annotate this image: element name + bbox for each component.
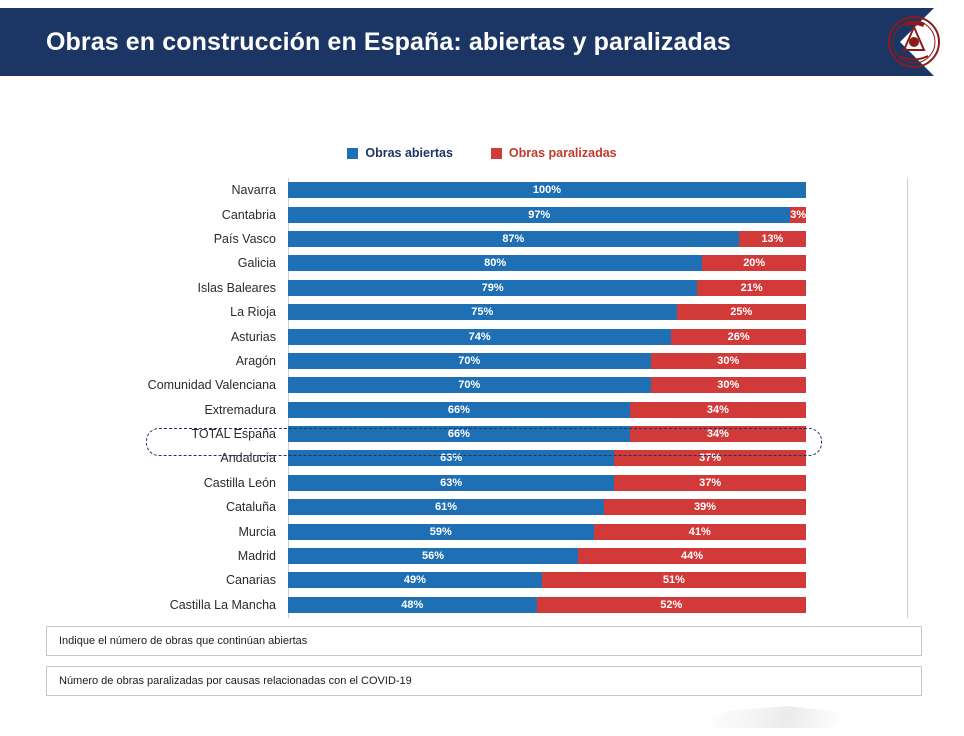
legend-label-stopped: Obras paralizadas	[509, 146, 617, 160]
chart-row: Navarra100%	[48, 178, 868, 202]
chart-row-label: Cantabria	[48, 208, 282, 222]
bar-segment-stopped: 51%	[542, 572, 806, 588]
chart-row-bars: 74%26%	[288, 329, 806, 345]
legend-item-obras-abiertas: Obras abiertas	[347, 146, 453, 160]
chart-row-bars: 48%52%	[288, 597, 806, 613]
page-header: Obras en construcción en España: abierta…	[0, 8, 964, 76]
chart-row-label: Extremadura	[48, 403, 282, 417]
coat-of-arms-logo	[886, 14, 942, 70]
page-title: Obras en construcción en España: abierta…	[46, 8, 731, 76]
chart-row: Castilla León63%37%	[48, 471, 868, 495]
chart-legend: Obras abiertas Obras paralizadas	[0, 146, 964, 160]
footnote-open-works: Indique el número de obras que continúan…	[46, 626, 922, 656]
chart-row-bars: 49%51%	[288, 572, 806, 588]
chart-row-label: Cataluña	[48, 500, 282, 514]
chart-row-bars: 61%39%	[288, 499, 806, 515]
bar-segment-stopped: 3%	[790, 207, 806, 223]
bar-segment-open: 61%	[288, 499, 604, 515]
bar-segment-stopped: 34%	[630, 426, 806, 442]
bar-segment-open: 70%	[288, 353, 651, 369]
chart-row: Islas Baleares79%21%	[48, 276, 868, 300]
bar-segment-stopped: 37%	[614, 450, 806, 466]
chart-row-label: Andalucía	[48, 451, 282, 465]
bar-segment-open: 75%	[288, 304, 677, 320]
bar-segment-open: 97%	[288, 207, 790, 223]
bar-segment-stopped: 52%	[537, 597, 806, 613]
footnotes: Indique el número de obras que continúan…	[46, 626, 922, 696]
chart-row-bars: 70%30%	[288, 353, 806, 369]
chart-row-label: Asturias	[48, 330, 282, 344]
chart-row-bars: 63%37%	[288, 450, 806, 466]
chart-row-label: Islas Baleares	[48, 281, 282, 295]
footnote-stopped-works: Número de obras paralizadas por causas r…	[46, 666, 922, 696]
chart-row: Andalucía63%37%	[48, 446, 868, 470]
bar-segment-stopped: 30%	[651, 353, 806, 369]
chart-row-bars: 79%21%	[288, 280, 806, 296]
bar-segment-open: 74%	[288, 329, 671, 345]
chart-row-bars: 59%41%	[288, 524, 806, 540]
chart-row: Asturias74%26%	[48, 324, 868, 348]
background-watermark	[704, 706, 844, 728]
bar-segment-open: 56%	[288, 548, 578, 564]
legend-swatch-open-icon	[347, 148, 358, 159]
bar-segment-stopped: 21%	[697, 280, 806, 296]
chart-row-label: País Vasco	[48, 232, 282, 246]
chart-row-label: TOTAL España	[48, 427, 282, 441]
bar-segment-stopped: 30%	[651, 377, 806, 393]
chart-row-label: Madrid	[48, 549, 282, 563]
chart-row-bars: 56%44%	[288, 548, 806, 564]
chart-row: Cataluña61%39%	[48, 495, 868, 519]
bar-segment-open: 66%	[288, 426, 630, 442]
chart-row: La Rioja75%25%	[48, 300, 868, 324]
chart-rows: Navarra100%Cantabria97%3%País Vasco87%13…	[48, 178, 868, 617]
chart-row: Cantabria97%3%	[48, 202, 868, 226]
chart-row: Canarias49%51%	[48, 568, 868, 592]
chart-row-label: Comunidad Valenciana	[48, 378, 282, 392]
chart-row-label: Navarra	[48, 183, 282, 197]
bar-segment-open: 80%	[288, 255, 702, 271]
bar-segment-open: 59%	[288, 524, 594, 540]
chart-row-bars: 66%34%	[288, 426, 806, 442]
bar-segment-stopped: 26%	[671, 329, 806, 345]
chart-row: Madrid56%44%	[48, 544, 868, 568]
chart-row-label: Castilla La Mancha	[48, 598, 282, 612]
bar-segment-stopped: 39%	[604, 499, 806, 515]
chart-row-bars: 70%30%	[288, 377, 806, 393]
bar-segment-stopped: 41%	[594, 524, 806, 540]
legend-item-obras-paralizadas: Obras paralizadas	[491, 146, 617, 160]
bar-segment-open: 100%	[288, 182, 806, 198]
bar-segment-stopped: 44%	[578, 548, 806, 564]
chart-row: TOTAL España66%34%	[48, 422, 868, 446]
chart-row-label: Canarias	[48, 573, 282, 587]
chart-row-bars: 100%	[288, 182, 806, 198]
bar-segment-open: 63%	[288, 475, 614, 491]
bar-segment-open: 48%	[288, 597, 537, 613]
bar-segment-stopped: 34%	[630, 402, 806, 418]
bar-segment-stopped: 13%	[739, 231, 806, 247]
chart-row: Murcia59%41%	[48, 519, 868, 543]
chart-row: País Vasco87%13%	[48, 227, 868, 251]
chart-row: Galicia80%20%	[48, 251, 868, 275]
stacked-bar-chart: Navarra100%Cantabria97%3%País Vasco87%13…	[48, 178, 868, 618]
bar-segment-open: 87%	[288, 231, 739, 247]
chart-row-label: Aragón	[48, 354, 282, 368]
legend-label-open: Obras abiertas	[365, 146, 453, 160]
chart-row-bars: 66%34%	[288, 402, 806, 418]
chart-row-bars: 97%3%	[288, 207, 806, 223]
chart-row: Castilla La Mancha48%52%	[48, 593, 868, 617]
chart-row-label: Murcia	[48, 525, 282, 539]
bar-segment-stopped: 25%	[677, 304, 807, 320]
chart-row-label: Castilla León	[48, 476, 282, 490]
bar-segment-open: 49%	[288, 572, 542, 588]
bar-segment-stopped: 20%	[702, 255, 806, 271]
chart-row-label: La Rioja	[48, 305, 282, 319]
bar-segment-stopped: 37%	[614, 475, 806, 491]
chart-row-bars: 80%20%	[288, 255, 806, 271]
chart-row-bars: 87%13%	[288, 231, 806, 247]
chart-row: Comunidad Valenciana70%30%	[48, 373, 868, 397]
bar-segment-open: 70%	[288, 377, 651, 393]
chart-row-bars: 63%37%	[288, 475, 806, 491]
legend-swatch-stopped-icon	[491, 148, 502, 159]
bar-segment-open: 63%	[288, 450, 614, 466]
chart-row-label: Galicia	[48, 256, 282, 270]
chart-row: Extremadura66%34%	[48, 398, 868, 422]
chart-row-bars: 75%25%	[288, 304, 806, 320]
bar-segment-open: 79%	[288, 280, 697, 296]
bar-segment-open: 66%	[288, 402, 630, 418]
chart-row: Aragón70%30%	[48, 349, 868, 373]
